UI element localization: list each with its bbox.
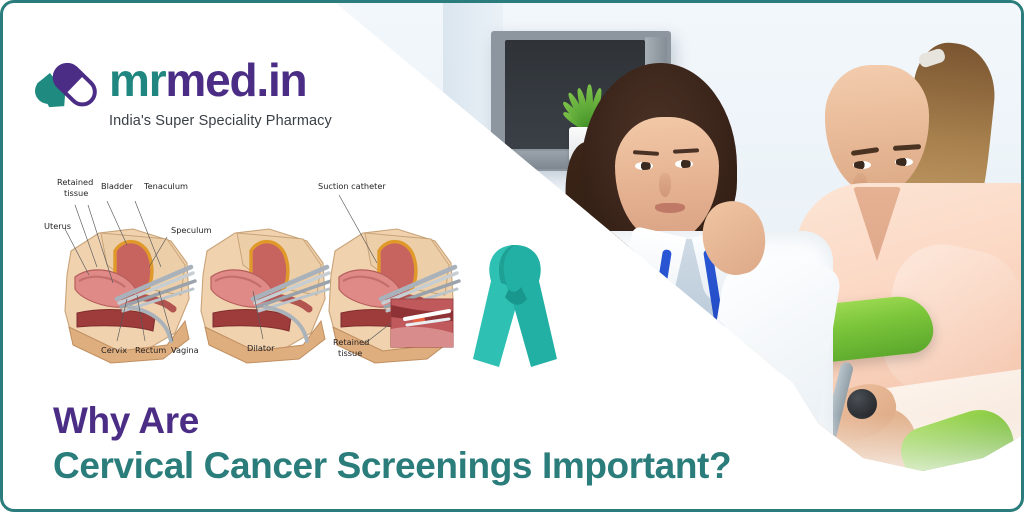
headline-line-2: Cervical Cancer Screenings Important? — [53, 445, 731, 486]
patient-eye — [853, 161, 871, 169]
banner-root: mrmed.in India's Super Speciality Pharma… — [0, 0, 1024, 512]
capsule-check-icon — [33, 55, 103, 117]
diagram-label: Cervix — [101, 345, 127, 355]
diagram-label: tissue — [64, 188, 88, 198]
page-title: Why Are Cervical Cancer Screenings Impor… — [53, 401, 731, 487]
diagram-label: Suction catheter — [318, 181, 386, 191]
diagram-label: Bladder — [101, 181, 133, 191]
diagram-label: Tenaculum — [143, 181, 188, 191]
diagram-label: Speculum — [171, 225, 212, 235]
cervical-procedure-diagram: Retained tissue Bladder Tenaculum Uterus… — [41, 171, 461, 391]
diagram-label: Rectum — [135, 345, 166, 355]
diagram-label: Dilator — [247, 343, 275, 353]
awareness-ribbon-icon — [455, 211, 575, 371]
brand-name-part3: .in — [256, 54, 306, 106]
brand-name-part1: mr — [109, 54, 165, 106]
brand-logo[interactable]: mrmed.in India's Super Speciality Pharma… — [33, 51, 333, 141]
patient-eye — [895, 158, 913, 166]
diagram-label: tissue — [338, 348, 362, 358]
diagram-label: Uterus — [44, 221, 71, 231]
brand-tagline: India's Super Speciality Pharmacy — [109, 113, 332, 129]
diagram-label: Retained — [57, 177, 93, 187]
brand-name-part2: med — [165, 54, 256, 106]
badge-clip — [679, 363, 695, 377]
diagram-label: Vagina — [171, 345, 199, 355]
patient-eyebrow — [851, 147, 879, 156]
brand-wordmark: mrmed.in — [109, 57, 306, 103]
diagram-label: Retained — [333, 337, 369, 347]
patient-eyebrow — [893, 144, 921, 151]
headline-line-1: Why Are — [53, 401, 731, 440]
